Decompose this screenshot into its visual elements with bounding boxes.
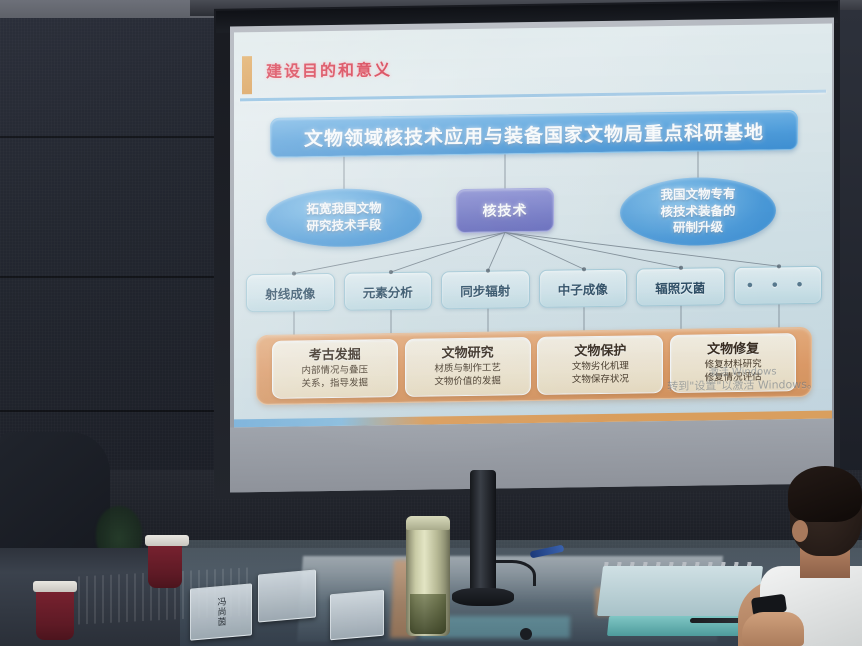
application-box-archaeology: 考古发掘 内部情况与叠压 关系，指导发掘 xyxy=(272,339,398,399)
tea-leaves xyxy=(410,594,446,634)
coffee-cup xyxy=(148,542,182,588)
desc-line-1: 文物劣化机理 xyxy=(572,361,629,373)
title-divider xyxy=(240,90,826,102)
node-line-1: 拓宽我国文物 xyxy=(306,200,381,216)
desc-line-2: 文物保存状况 xyxy=(572,373,629,385)
desc-line-1: 材质与制作工艺 xyxy=(434,363,501,375)
title-accent-bar xyxy=(242,56,252,94)
application-desc: 修复材料研究 修复情况评估 xyxy=(705,359,762,385)
application-title: 考古发掘 xyxy=(309,347,361,363)
slide-title: 建设目的和意义 xyxy=(266,56,392,82)
application-band: 考古发掘 内部情况与叠压 关系，指导发掘 文物研究 材质与制作工艺 文物价值的发… xyxy=(256,327,812,405)
slide-projection-tint xyxy=(234,24,832,428)
technique-box-irradiation-sterilization: 辐照灭菌 xyxy=(636,267,725,306)
notebook xyxy=(597,566,763,616)
attendee-hair xyxy=(788,466,862,522)
application-box-restoration: 文物修复 修复材料研究 修复情况评估 xyxy=(670,333,796,393)
diagram-root-label: 文物领域核技术应用与装备国家文物局重点科研基地 xyxy=(304,117,764,151)
desc-line-2: 文物价值的发掘 xyxy=(434,375,501,387)
technique-label: 元素分析 xyxy=(363,281,413,301)
name-placard xyxy=(330,590,384,641)
technique-box-neutron-imaging: 中子成像 xyxy=(539,269,628,308)
tea-thermos xyxy=(406,516,450,636)
node-line-2: 核技术装备的 xyxy=(660,203,735,219)
ellipsis-label: • • • xyxy=(746,277,810,293)
desc-line-1: 修复材料研究 xyxy=(705,359,762,371)
watermark-line-2: 转到"设置"以激活 Windows。 xyxy=(667,378,818,395)
attendee-ear xyxy=(792,520,808,542)
conference-room-scene: 建设目的和意义 xyxy=(0,0,862,646)
wall-seam xyxy=(0,276,242,278)
desc-line-2: 修复情况评估 xyxy=(705,371,762,383)
wall-texture xyxy=(0,18,242,488)
office-chair xyxy=(0,432,110,562)
application-desc: 文物劣化机理 文物保存状况 xyxy=(572,361,629,387)
application-title: 文物研究 xyxy=(442,345,494,361)
diagram-node-equipment-upgrade: 我国文物专有 核技术装备的 研制升级 xyxy=(620,176,776,246)
watermark-line-1: 激活 Windows xyxy=(667,364,818,380)
application-title: 文物修复 xyxy=(707,341,759,357)
technique-label: 中子成像 xyxy=(558,278,608,298)
technique-box-xray-imaging: 射线成像 xyxy=(246,273,335,312)
name-placard: 冯尚茵 xyxy=(190,583,252,640)
technique-row: 射线成像 元素分析 同步辐射 中子成像 辐照灭菌 • • • xyxy=(246,266,822,313)
node-line-2: 研究技术手段 xyxy=(306,217,381,233)
application-box-research: 文物研究 材质与制作工艺 文物价值的发掘 xyxy=(405,337,531,397)
diagram-node-nuclear-technology: 核技术 xyxy=(456,188,554,233)
diagram-node-label: 核技术 xyxy=(483,200,528,221)
diagram-node-label: 拓宽我国文物 研究技术手段 xyxy=(306,200,381,235)
attendee-hand xyxy=(742,612,804,646)
name-placard xyxy=(258,569,316,622)
screen-empty-area xyxy=(230,419,834,493)
diagram-root-node: 文物领域核技术应用与装备国家文物局重点科研基地 xyxy=(270,110,798,158)
windows-activation-watermark: 激活 Windows 转到"设置"以激活 Windows。 xyxy=(667,364,818,395)
diagram-node-label: 我国文物专有 核技术装备的 研制升级 xyxy=(660,186,735,238)
application-title: 文物保护 xyxy=(574,343,626,359)
projection-screen-surface: 建设目的和意义 xyxy=(230,18,834,493)
technique-box-more: • • • xyxy=(734,266,823,305)
application-desc: 材质与制作工艺 文物价值的发掘 xyxy=(434,363,501,389)
technique-label: 同步辐射 xyxy=(460,280,510,300)
technique-box-element-analysis: 元素分析 xyxy=(344,271,433,310)
node-line-3: 研制升级 xyxy=(673,220,723,236)
diagram-connectors xyxy=(234,24,832,428)
wall-panel-left xyxy=(0,18,242,488)
desc-line-2: 关系，指导发掘 xyxy=(302,377,369,389)
diagram-node-broaden-techniques: 拓宽我国文物 研究技术手段 xyxy=(266,188,422,248)
node-line-1: 我国文物专有 xyxy=(660,186,735,202)
wall-seam xyxy=(0,136,242,138)
desc-line-1: 内部情况与叠压 xyxy=(302,365,369,377)
coffee-cup xyxy=(36,588,74,640)
slide-footer-strip xyxy=(234,411,832,428)
presentation-slide: 建设目的和意义 xyxy=(234,24,832,428)
microphone-base xyxy=(452,588,514,606)
technique-box-synchrotron-radiation: 同步辐射 xyxy=(441,270,530,309)
placard-name: 冯尚茵 xyxy=(215,596,228,627)
technique-label: 辐照灭菌 xyxy=(655,277,705,297)
small-desk-object xyxy=(520,628,532,640)
microphone xyxy=(470,470,496,600)
wall-seam xyxy=(0,410,242,412)
technique-label: 射线成像 xyxy=(265,283,315,303)
application-desc: 内部情况与叠压 关系，指导发掘 xyxy=(302,365,369,391)
application-box-preservation: 文物保护 文物劣化机理 文物保存状况 xyxy=(537,335,663,395)
